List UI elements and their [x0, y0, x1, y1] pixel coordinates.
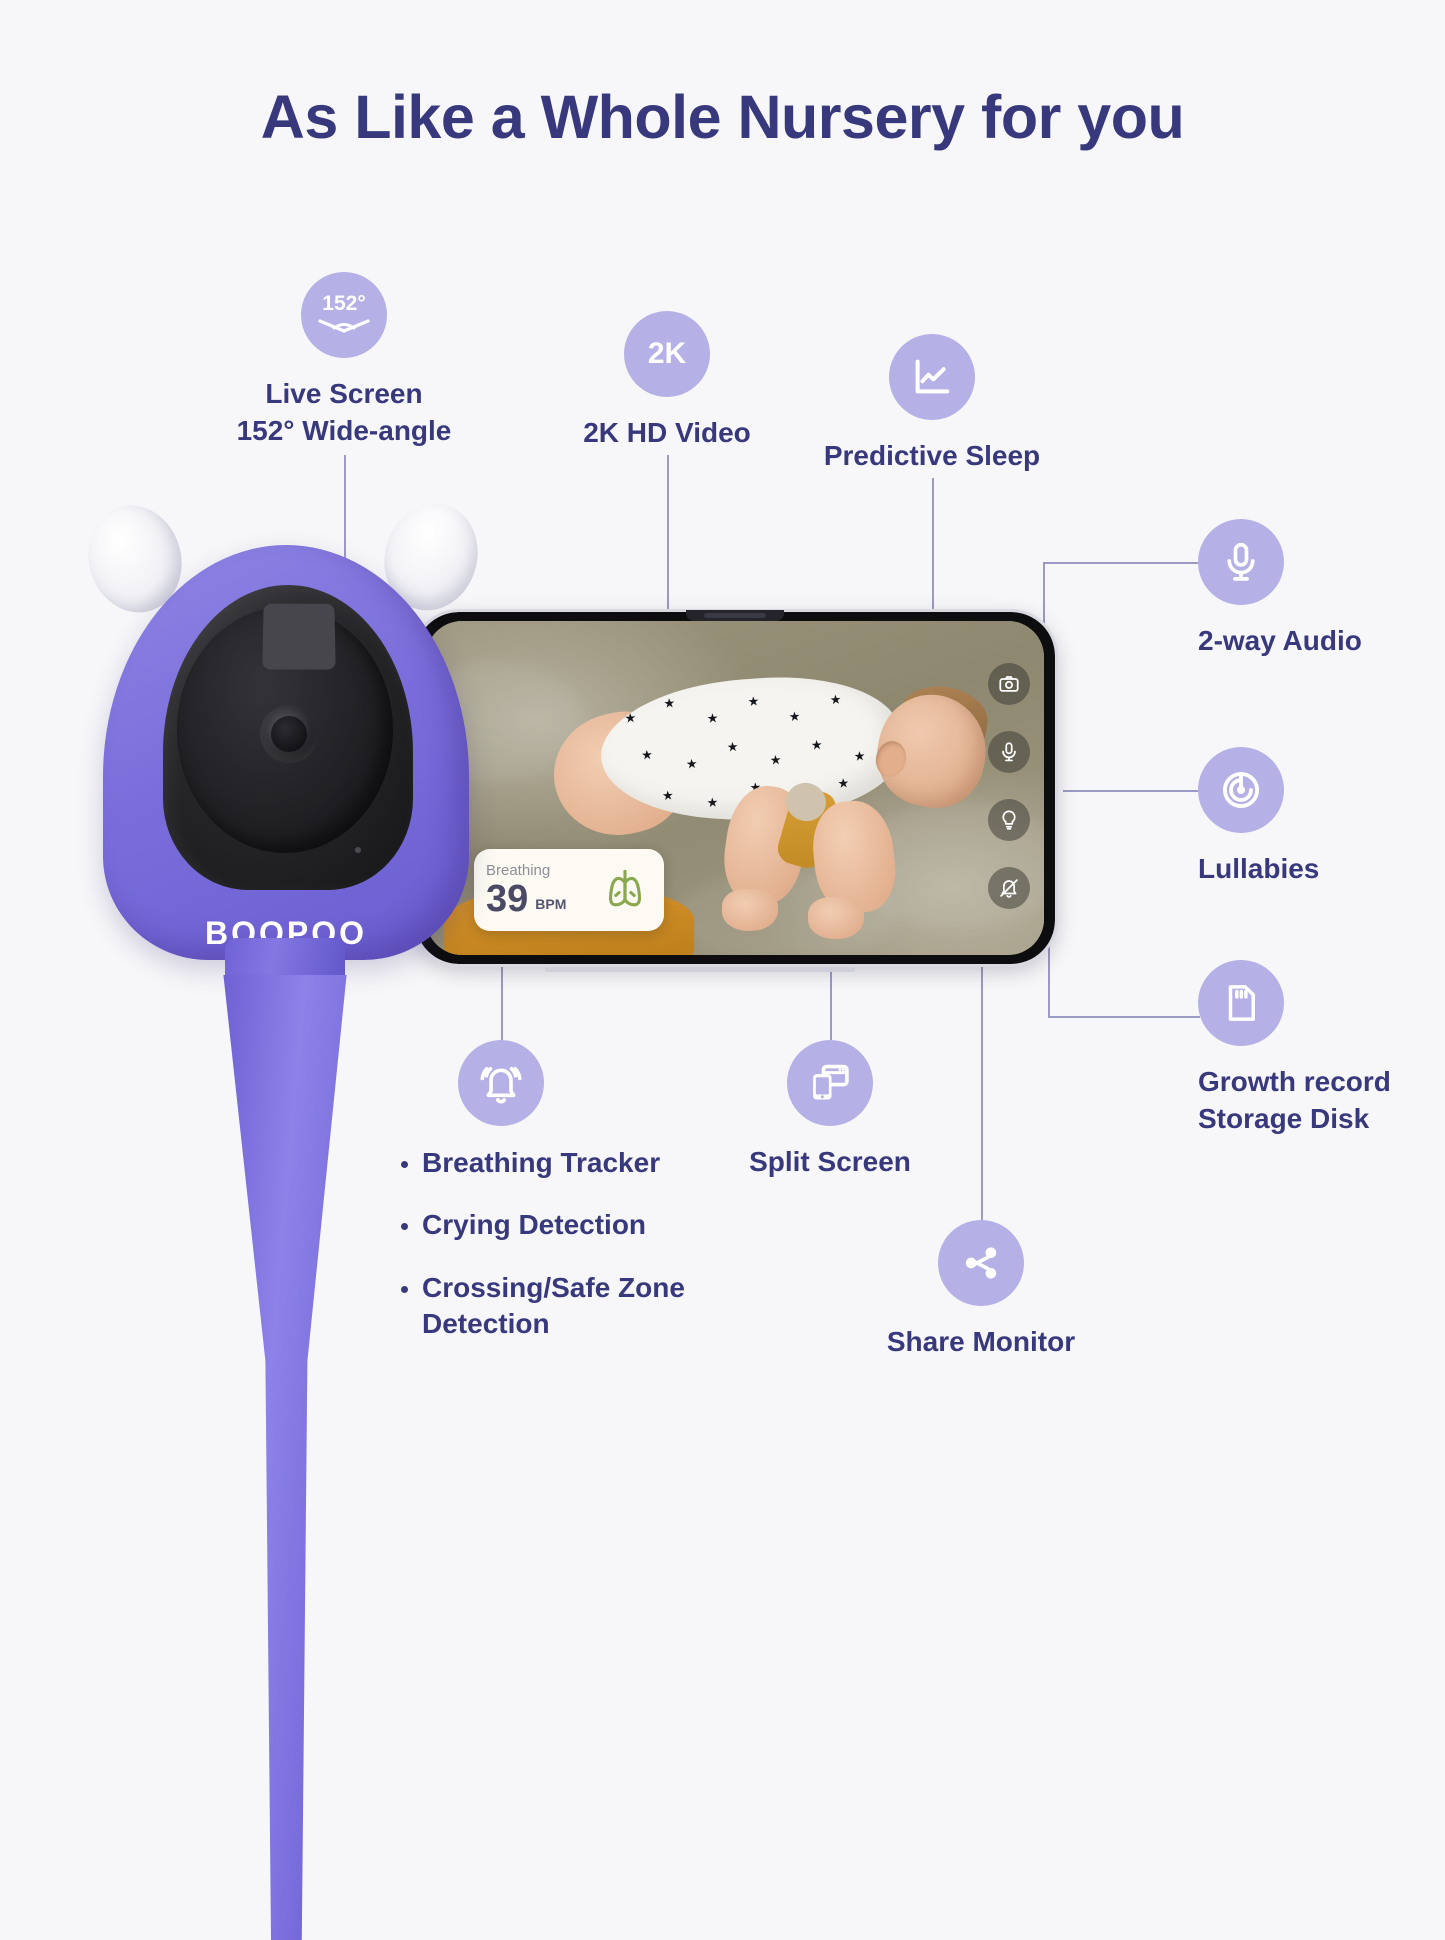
- feature-label-lullabies: Lullabies: [1198, 850, 1438, 887]
- wide-angle-icon: 152°: [301, 272, 387, 358]
- connector-share-monitor: [981, 930, 983, 1220]
- camera-lens-disc: [177, 607, 393, 853]
- microphone-icon: [1198, 519, 1284, 605]
- camera-lens-icon: [260, 705, 318, 763]
- feature-live-screen[interactable]: 152° Live Screen 152° Wide-angle: [194, 272, 494, 449]
- phone-mockup: ★ ★ ★ ★ ★ ★ ★ ★ ★ ★ ★ ★ ★ ★ ★ ★ ★: [415, 612, 1055, 964]
- feature-label-live-screen: Live Screen 152° Wide-angle: [194, 375, 494, 449]
- connector-lullabies: [1063, 790, 1198, 792]
- wide-angle-badge-text: 152°: [322, 292, 365, 315]
- feature-growth-record[interactable]: Growth record Storage Disk: [1198, 960, 1445, 1137]
- feature-predictive-sleep[interactable]: Predictive Sleep: [822, 334, 1042, 474]
- baby-monitor-camera: BOOPOO: [75, 495, 495, 1445]
- microphone-glyph: [1219, 540, 1263, 584]
- camera-icon: [998, 673, 1020, 695]
- camera-stand: [215, 975, 355, 1940]
- feature-label-split-screen: Split Screen: [730, 1143, 930, 1180]
- lightbulb-icon: [998, 809, 1020, 831]
- multi-device-glyph: [807, 1060, 853, 1106]
- music-spiral-icon: [1198, 747, 1284, 833]
- lungs-icon: [600, 865, 650, 915]
- baby-hand: [808, 897, 864, 939]
- screen-control-nightlight[interactable]: [988, 799, 1030, 841]
- feature-two-way-audio[interactable]: 2-way Audio: [1198, 519, 1438, 659]
- microphone-icon: [998, 741, 1020, 763]
- music-spiral-glyph: [1218, 767, 1264, 813]
- share-network-icon: [938, 1220, 1024, 1306]
- feature-2k-hd-video[interactable]: 2K 2K HD Video: [547, 311, 787, 451]
- connector-two-way-audio-h: [1043, 562, 1198, 564]
- phone-speaker-grill: [704, 613, 766, 618]
- feature-label-share-monitor: Share Monitor: [881, 1323, 1081, 1360]
- breathing-unit: BPM: [535, 896, 566, 912]
- screen-control-talk[interactable]: [988, 731, 1030, 773]
- connector-growth-record-h: [1048, 1016, 1200, 1018]
- feature-label-growth-record: Growth record Storage Disk: [1198, 1063, 1445, 1137]
- sd-card-icon: [1198, 960, 1284, 1046]
- bell-muted-icon: [998, 877, 1020, 899]
- line-chart-glyph: [909, 354, 955, 400]
- feature-split-screen[interactable]: Split Screen: [730, 1040, 930, 1180]
- share-network-glyph: [959, 1241, 1003, 1285]
- feature-share-monitor[interactable]: Share Monitor: [881, 1220, 1081, 1360]
- page-title: As Like a Whole Nursery for you: [0, 82, 1445, 152]
- feature-label-two-way-audio: 2-way Audio: [1198, 622, 1438, 659]
- breathing-tracker-card: Breathing 39 BPM: [474, 849, 664, 931]
- phone-screen: ★ ★ ★ ★ ★ ★ ★ ★ ★ ★ ★ ★ ★ ★ ★ ★ ★: [426, 621, 1044, 955]
- camera-indicator-dot: [355, 847, 361, 853]
- wide-angle-glyph: 152°: [312, 285, 376, 345]
- screen-control-mute-alert[interactable]: [988, 867, 1030, 909]
- line-chart-icon: [889, 334, 975, 420]
- infographic-stage: As Like a Whole Nursery for you BOOPOO: [0, 0, 1445, 1445]
- multi-device-icon: [787, 1040, 873, 1126]
- camera-sensor-icon: [262, 604, 335, 670]
- resolution-2k-badge-text: 2K: [648, 339, 686, 369]
- sd-card-glyph: [1220, 982, 1262, 1024]
- feature-label-2k-hd-video: 2K HD Video: [547, 414, 787, 451]
- feature-label-predictive-sleep: Predictive Sleep: [822, 437, 1042, 474]
- phone-bottom-edge: [545, 967, 855, 972]
- camera-face-panel: [163, 585, 413, 890]
- feature-lullabies[interactable]: Lullabies: [1198, 747, 1438, 887]
- baby-hand: [722, 889, 778, 931]
- screen-control-snapshot[interactable]: [988, 663, 1030, 705]
- resolution-2k-icon: 2K: [624, 311, 710, 397]
